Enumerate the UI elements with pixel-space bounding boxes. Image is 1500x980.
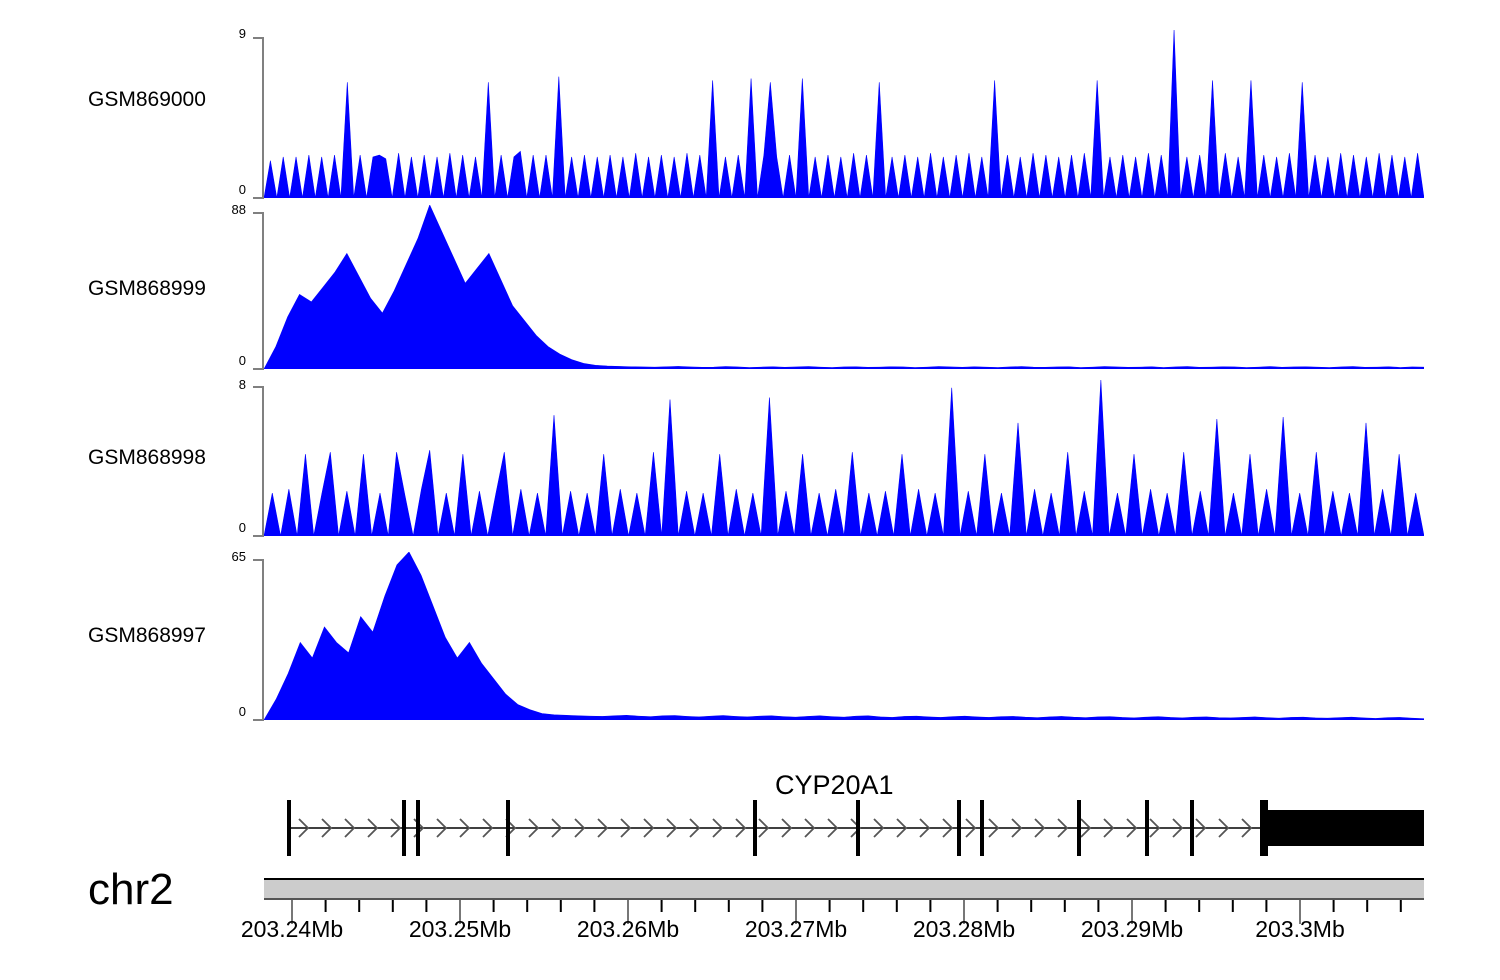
track-label-3: GSM868997 [88,624,206,648]
gene-model-track: CYP20A1 [0,770,1500,865]
axis-tick-label: 203.3Mb [1230,916,1370,943]
exon[interactable] [287,800,291,856]
track-axis-min-1: 0 [202,353,246,368]
exon[interactable] [402,800,406,856]
exon[interactable] [416,800,420,856]
exon[interactable] [1264,800,1268,856]
axis-tick-label: 203.29Mb [1062,916,1202,943]
track-data-3 [264,552,1424,720]
exon[interactable] [1145,800,1149,856]
genome-browser: GSM869000 9 0 GSM868999 88 0 GSM868998 8… [0,0,1500,980]
track-data-0 [264,30,1424,198]
exon[interactable] [980,800,984,856]
axis-tick-label: 203.28Mb [894,916,1034,943]
track-axis-max-2: 8 [210,377,246,392]
exon[interactable] [1077,800,1081,856]
track-label-2: GSM868998 [88,446,206,470]
exon[interactable] [957,800,961,856]
track-axis-min-3: 0 [204,704,246,719]
track-axis-max-0: 9 [210,26,246,41]
track-label-1: GSM868999 [88,277,206,301]
gene-model-svg[interactable] [0,770,1500,865]
track-label-0: GSM869000 [88,88,206,112]
axis-tick-label: 203.26Mb [558,916,698,943]
axis-tick-label: 203.25Mb [390,916,530,943]
coverage-area [264,380,1424,536]
track-axis-min-0: 0 [210,182,246,197]
track-data-1 [264,205,1424,369]
exon[interactable] [753,800,757,856]
track-axis-max-1: 88 [202,202,246,217]
exon[interactable] [506,800,510,856]
coverage-area [264,30,1424,198]
exon[interactable] [856,800,860,856]
genome-axis-bar[interactable] [264,878,1424,900]
track-axis-max-3: 65 [204,549,246,564]
exon[interactable] [1190,800,1194,856]
coverage-area [264,552,1424,720]
track-data-2 [264,380,1424,536]
track-axis-min-2: 0 [210,520,246,535]
axis-tick-label: 203.24Mb [222,916,362,943]
exon[interactable] [1260,800,1264,856]
terminal-exon-block[interactable] [1268,810,1424,846]
axis-tick-label: 203.27Mb [726,916,866,943]
coverage-area [264,205,1424,369]
